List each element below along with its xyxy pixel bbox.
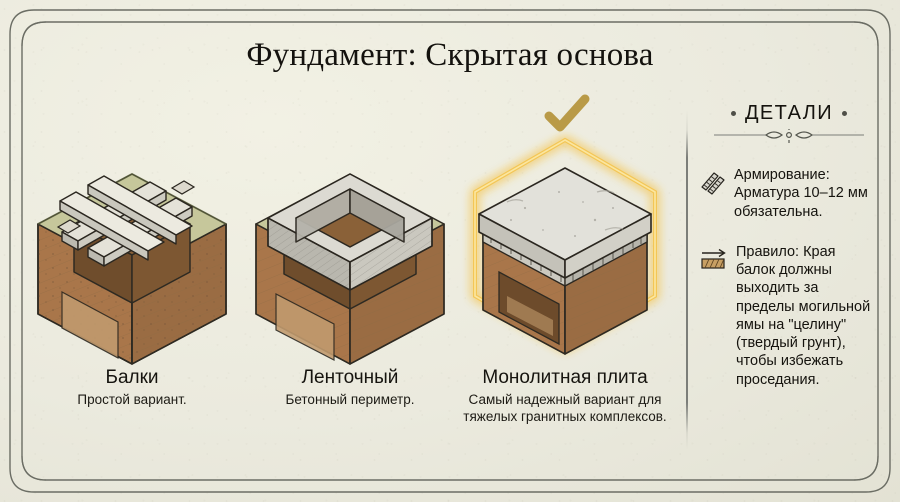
rebar-icon bbox=[700, 169, 726, 195]
details-sidebar: ДЕТАЛИ bbox=[700, 96, 878, 486]
sidebar-heading: ДЕТАЛИ bbox=[745, 102, 833, 125]
bullet-dot-left-icon bbox=[731, 111, 736, 116]
beam-overhang-arrow-icon bbox=[700, 246, 728, 272]
illustration-strip bbox=[240, 96, 460, 366]
option-subtitle: Бетонный периметр. bbox=[234, 392, 466, 409]
option-subtitle: Простой вариант. bbox=[16, 392, 248, 409]
illustration-beams bbox=[22, 96, 242, 366]
detail-item-text: Армирование: Арматура 10–12 мм обязатель… bbox=[734, 166, 878, 221]
option-title: Монолитная плита bbox=[449, 368, 681, 389]
caption-beams: Балки Простой вариант. bbox=[16, 368, 248, 409]
option-subtitle: Самый надежный вариант для тяжелых грани… bbox=[449, 392, 681, 426]
detail-item-reinforcement: Армирование: Арматура 10–12 мм обязатель… bbox=[700, 166, 878, 221]
illustration-monolithic-slab bbox=[455, 96, 675, 366]
flourish-divider-icon bbox=[700, 129, 878, 147]
caption-monolithic-slab: Монолитная плита Самый надежный вариант … bbox=[449, 368, 681, 426]
options-row: Балки Простой вариант. bbox=[18, 96, 678, 486]
option-card-monolithic-slab[interactable]: Монолитная плита Самый надежный вариант … bbox=[455, 96, 675, 486]
option-card-beams[interactable]: Балки Простой вариант. bbox=[22, 96, 242, 486]
sidebar-heading-row: ДЕТАЛИ bbox=[700, 102, 878, 125]
sidebar-divider bbox=[686, 110, 688, 450]
page-title: Фундамент: Скрытая основа bbox=[0, 37, 900, 74]
option-title: Балки bbox=[16, 368, 248, 389]
detail-item-text: Правило: Края балок должны выходить за п… bbox=[736, 243, 878, 389]
bullet-dot-right-icon bbox=[842, 111, 847, 116]
infographic-canvas: Фундамент: Скрытая основа bbox=[0, 0, 900, 502]
option-title: Ленточный bbox=[234, 368, 466, 389]
option-card-strip[interactable]: Ленточный Бетонный периметр. bbox=[240, 96, 460, 486]
caption-strip: Ленточный Бетонный периметр. bbox=[234, 368, 466, 409]
detail-item-rule: Правило: Края балок должны выходить за п… bbox=[700, 243, 878, 389]
